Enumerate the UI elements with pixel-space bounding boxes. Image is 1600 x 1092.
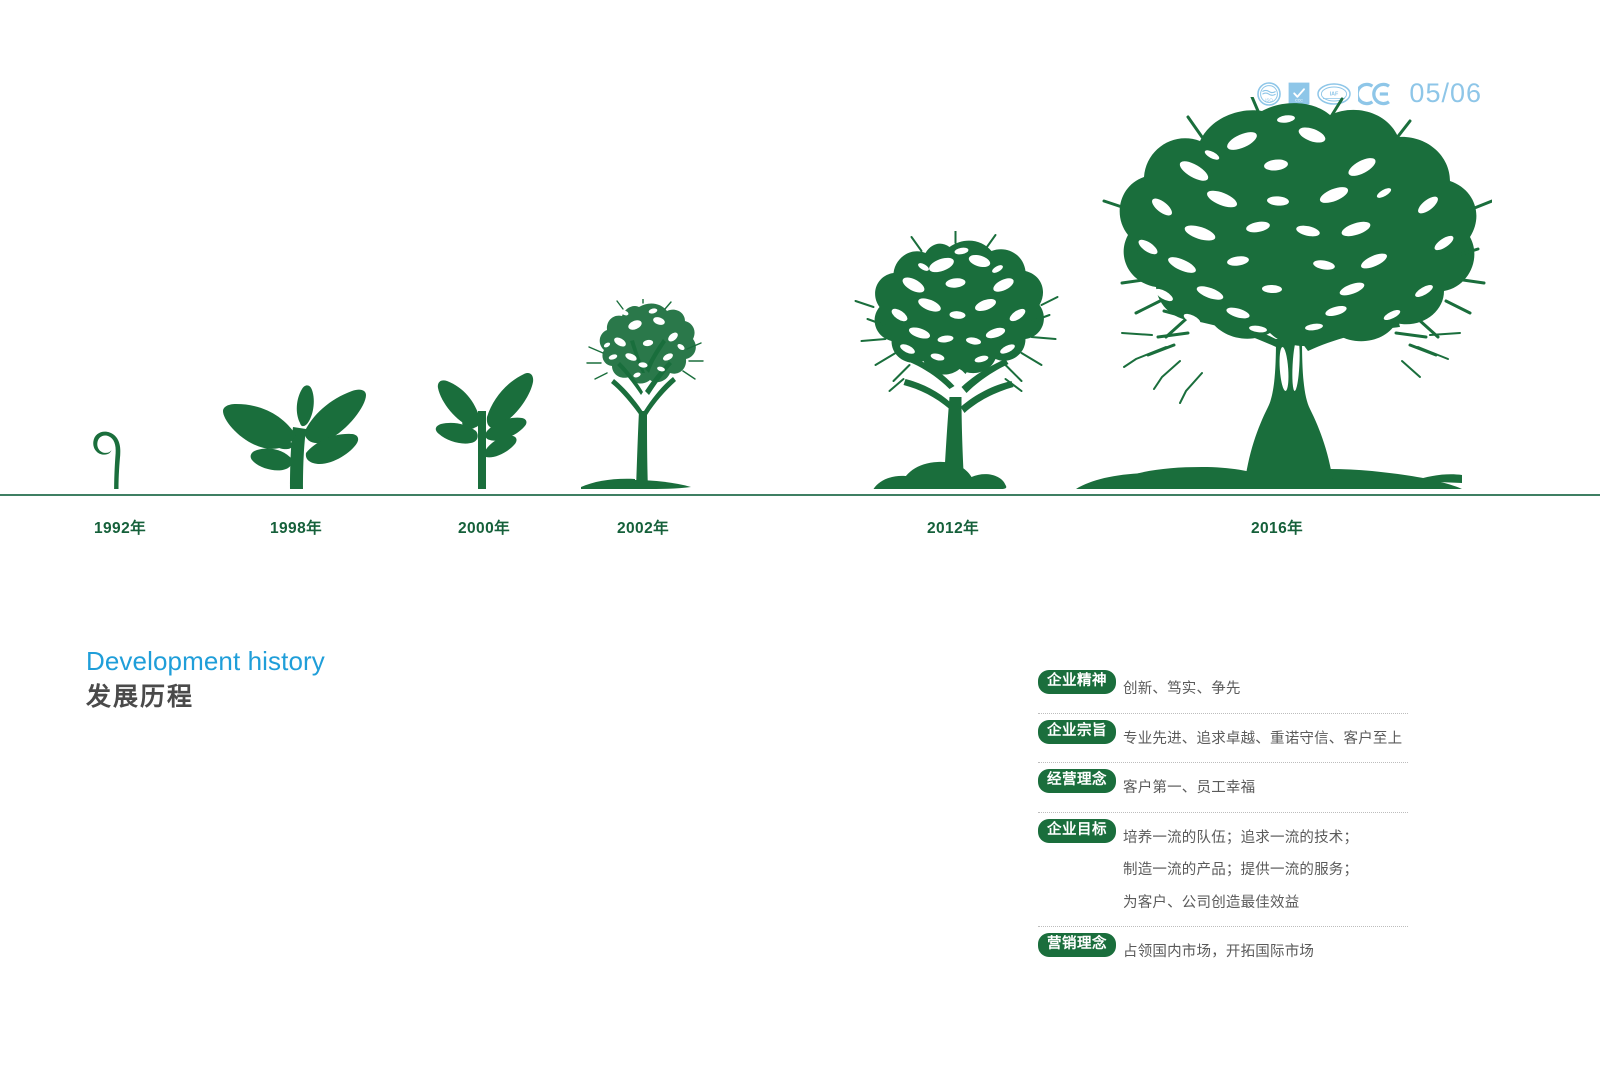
timeline-stage-2000: 2000年 bbox=[404, 0, 564, 560]
heading-english: Development history bbox=[86, 644, 325, 678]
seed-sprout-icon bbox=[85, 417, 155, 494]
culture-row: 营销理念 占领国内市场，开拓国际市场 bbox=[1038, 927, 1408, 976]
culture-line: 制造一流的产品；提供一流的服务； bbox=[1123, 854, 1358, 887]
corporate-culture-list: 企业精神 创新、笃实、争先 企业宗旨 专业先进、追求卓越、重诺守信、客户至上 经… bbox=[1038, 664, 1408, 976]
small-tree-icon bbox=[573, 299, 713, 494]
section-heading: Development history 发展历程 bbox=[86, 644, 325, 715]
large-tree-icon bbox=[1062, 97, 1492, 494]
timeline-stage-2016: 2016年 bbox=[1047, 0, 1507, 560]
culture-line: 为客户、公司创造最佳效益 bbox=[1123, 887, 1358, 920]
culture-text: 创新、笃实、争先 bbox=[1123, 670, 1241, 706]
culture-row: 经营理念 客户第一、员工幸福 bbox=[1038, 763, 1408, 813]
culture-badge: 企业宗旨 bbox=[1038, 720, 1116, 744]
culture-text: 专业先进、追求卓越、重诺守信、客户至上 bbox=[1123, 720, 1402, 756]
timeline-year-label: 2012年 bbox=[927, 516, 979, 538]
culture-row: 企业宗旨 专业先进、追求卓越、重诺守信、客户至上 bbox=[1038, 714, 1408, 764]
timeline-stage-1998: 1998年 bbox=[206, 0, 386, 560]
sapling-icon bbox=[423, 365, 545, 494]
culture-line: 占领国内市场，开拓国际市场 bbox=[1123, 936, 1314, 969]
culture-text: 培养一流的队伍；追求一流的技术； 制造一流的产品；提供一流的服务； 为客户、公司… bbox=[1123, 819, 1358, 920]
culture-row: 企业精神 创新、笃实、争先 bbox=[1038, 664, 1408, 714]
culture-line: 客户第一、员工幸福 bbox=[1123, 772, 1255, 805]
heading-chinese: 发展历程 bbox=[86, 679, 325, 715]
timeline-stage-1992: 1992年 bbox=[40, 0, 200, 560]
culture-row: 企业目标 培养一流的队伍；追求一流的技术； 制造一流的产品；提供一流的服务； 为… bbox=[1038, 813, 1408, 928]
culture-line: 培养一流的队伍；追求一流的技术； bbox=[1123, 822, 1358, 855]
timeline-stage-2012: 2012年 bbox=[823, 0, 1083, 560]
young-seedling-icon bbox=[220, 377, 372, 494]
timeline-year-label: 1992年 bbox=[94, 516, 146, 538]
culture-badge: 企业目标 bbox=[1038, 819, 1116, 843]
culture-badge: 营销理念 bbox=[1038, 933, 1116, 957]
development-timeline: 1992年 bbox=[0, 0, 1600, 560]
culture-badge: 企业精神 bbox=[1038, 670, 1116, 694]
timeline-year-label: 2016年 bbox=[1251, 516, 1303, 538]
timeline-stage-2002: 2002年 bbox=[553, 0, 733, 560]
culture-badge: 经营理念 bbox=[1038, 769, 1116, 793]
timeline-year-label: 2002年 bbox=[617, 516, 669, 538]
culture-line: 专业先进、追求卓越、重诺守信、客户至上 bbox=[1123, 723, 1402, 756]
medium-tree-icon bbox=[846, 231, 1061, 494]
culture-line: 创新、笃实、争先 bbox=[1123, 673, 1241, 706]
timeline-year-label: 1998年 bbox=[270, 516, 322, 538]
culture-text: 客户第一、员工幸福 bbox=[1123, 769, 1255, 805]
culture-text: 占领国内市场，开拓国际市场 bbox=[1123, 933, 1314, 969]
timeline-year-label: 2000年 bbox=[458, 516, 510, 538]
